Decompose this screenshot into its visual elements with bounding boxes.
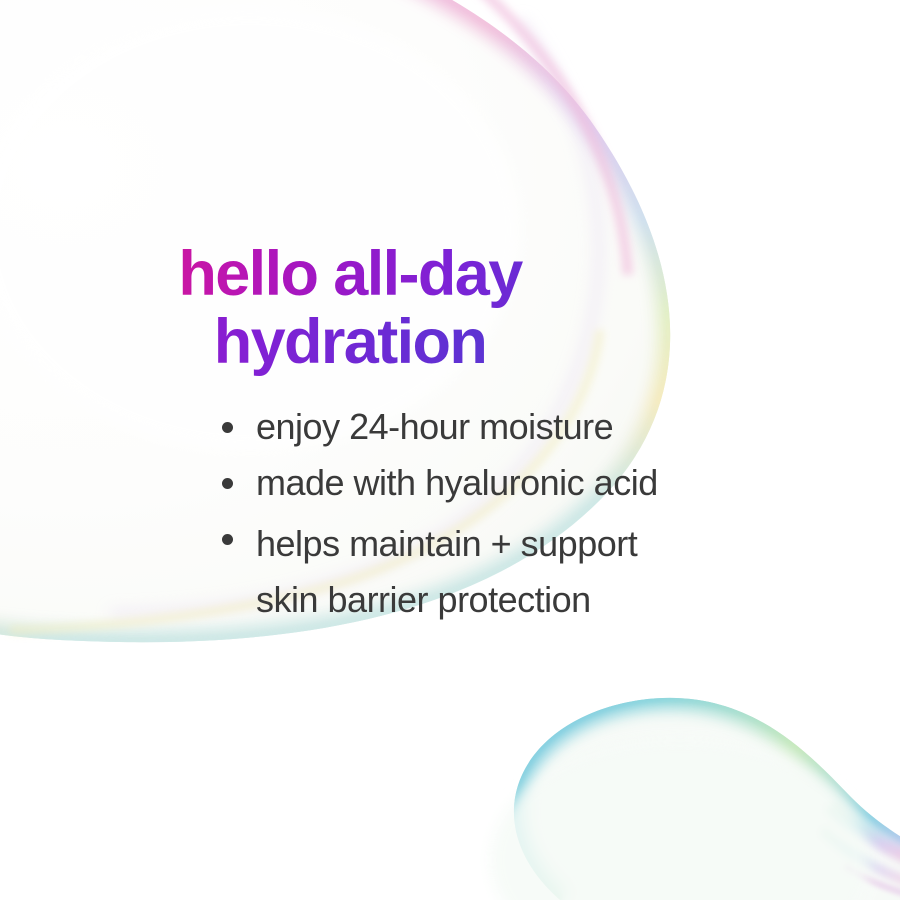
benefit-text: made with hyaluronic acid xyxy=(256,460,658,505)
benefit-list: enjoy 24-hour moisture made with hyaluro… xyxy=(222,404,782,639)
headline-line-1: hello all-day xyxy=(0,240,700,308)
list-item: enjoy 24-hour moisture xyxy=(222,404,782,449)
benefit-text-continuation: skin barrier protection xyxy=(256,572,637,628)
list-item: made with hyaluronic acid xyxy=(222,460,782,505)
card-content: hello all-day hydration enjoy 24-hour mo… xyxy=(0,0,900,900)
page-title: hello all-day hydration xyxy=(0,240,700,376)
headline-line-2: hydration xyxy=(0,308,700,376)
benefit-text: enjoy 24-hour moisture xyxy=(256,404,613,449)
bullet-dot-icon xyxy=(222,422,233,433)
product-feature-card: hello all-day hydration enjoy 24-hour mo… xyxy=(0,0,900,900)
bullet-dot-icon xyxy=(222,534,233,545)
benefit-text: helps maintain + support xyxy=(256,523,637,564)
benefit-text-group: helps maintain + support skin barrier pr… xyxy=(256,516,637,628)
list-item: helps maintain + support skin barrier pr… xyxy=(222,516,782,628)
bullet-dot-icon xyxy=(222,478,233,489)
